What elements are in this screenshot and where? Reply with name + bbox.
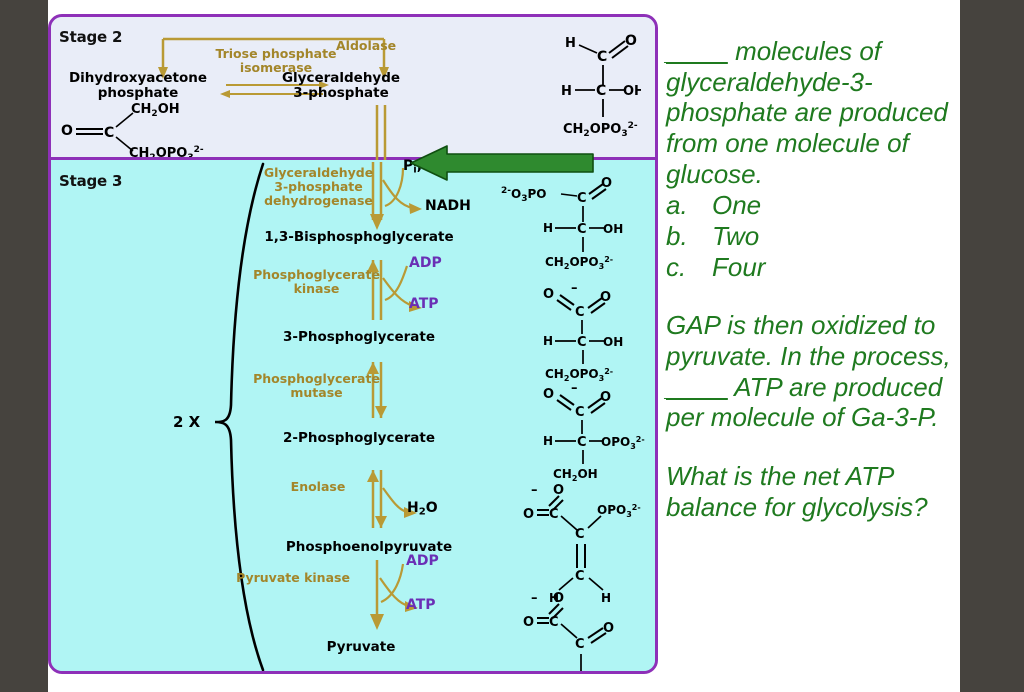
- svg-text:OPO32-: OPO32-: [597, 503, 641, 519]
- enzyme-pyruvate-kinase: Pyruvate kinase: [219, 571, 367, 585]
- svg-text:CH2OH: CH2OH: [553, 467, 598, 483]
- svg-text:O: O: [603, 621, 614, 636]
- svg-text:C: C: [597, 49, 607, 65]
- spacer-2: [666, 433, 958, 461]
- svg-text:C: C: [575, 637, 585, 652]
- question-3: What is the net ATP balance for glycolys…: [666, 461, 958, 522]
- svg-text:C: C: [575, 405, 585, 420]
- svg-text:C: C: [575, 305, 585, 320]
- svg-text:C: C: [575, 569, 585, 584]
- structure-3-pg: O – C O H C OH: [543, 281, 623, 383]
- svg-text:O: O: [600, 390, 611, 405]
- cofactor-atp-1: ATP: [409, 296, 439, 312]
- choice-a[interactable]: a. One: [666, 190, 958, 221]
- enzyme-aldolase: Aldolase: [336, 39, 396, 53]
- enzyme-enolase: Enolase: [273, 480, 363, 494]
- stage3-panel: Stage 3 2 X: [51, 160, 655, 671]
- svg-text:C: C: [577, 435, 587, 450]
- cofactor-adp-2: ADP: [406, 553, 439, 569]
- svg-text:CH2OPO32-: CH2OPO32-: [129, 145, 204, 157]
- glycolysis-diagram: Stage 2 Triose phosp: [48, 14, 658, 674]
- svg-text:OH: OH: [603, 335, 623, 349]
- cofactor-atp-2: ATP: [406, 597, 436, 613]
- svg-text:OH: OH: [623, 84, 641, 99]
- svg-text:H: H: [565, 36, 576, 51]
- cofactor-nadh: NADH: [425, 198, 471, 214]
- svg-text:C: C: [577, 191, 587, 206]
- svg-text:O: O: [625, 33, 637, 49]
- enzyme-phosphoglycerate-kinase: Phosphoglycerate kinase: [249, 268, 384, 296]
- enzyme-phosphoglycerate-mutase: Phosphoglycerate mutase: [249, 372, 384, 400]
- question-1-blank[interactable]: ____: [666, 36, 728, 66]
- compound-2-phosphoglycerate: 2-Phosphoglycerate: [249, 431, 469, 446]
- svg-text:H: H: [561, 84, 572, 99]
- svg-text:CH2OPO32-: CH2OPO32-: [563, 121, 638, 139]
- question-1-choices: a. One b. Two c. Four: [666, 190, 958, 282]
- compound-dihydroxyacetone-phosphate: Dihydroxyacetone phosphate: [53, 71, 223, 101]
- svg-text:O: O: [543, 387, 554, 402]
- svg-text:C: C: [549, 615, 559, 630]
- svg-text:CH2OPO32-: CH2OPO32-: [545, 367, 613, 383]
- structure-pep: – O O C C OPO32- C: [523, 483, 641, 605]
- structure-dhap: O C CH2OH CH2OPO32-: [61, 99, 221, 157]
- stage2-panel: Stage 2 Triose phosp: [51, 17, 655, 160]
- question-panel: ____ molecules of glyceraldehyde-3-phosp…: [666, 36, 958, 522]
- svg-text:–: –: [571, 281, 578, 296]
- question-2-part1: GAP is then oxidized to pyruvate. In the…: [666, 310, 951, 371]
- structure-1-3-bpg: 2-O3PO C O H C OH CH2OPO32-: [501, 176, 623, 271]
- choice-b-label: Two: [712, 221, 759, 252]
- svg-text:C: C: [104, 125, 114, 141]
- choice-a-letter: a.: [666, 190, 712, 221]
- structure-2-pg: O – C O H C OPO32-: [543, 381, 645, 483]
- svg-text:H: H: [543, 434, 553, 448]
- compound-glyceraldehyde-3-phosphate: Glyceraldehyde 3-phosphate: [261, 71, 421, 101]
- compound-pyruvate: Pyruvate: [281, 640, 441, 655]
- screen-root: Stage 2 Triose phosp: [0, 0, 1024, 692]
- svg-text:CH2OPO32-: CH2OPO32-: [545, 255, 613, 271]
- choice-c-label: Four: [712, 252, 765, 283]
- svg-text:O: O: [601, 176, 612, 191]
- choice-b-letter: b.: [666, 221, 712, 252]
- svg-text:CH2OH: CH2OH: [131, 102, 180, 119]
- slide-page: Stage 2 Triose phosp: [48, 0, 960, 692]
- svg-text:O: O: [523, 507, 534, 522]
- question-1: ____ molecules of glyceraldehyde-3-phosp…: [666, 36, 958, 189]
- compound-phosphoenolpyruvate: Phosphoenolpyruvate: [249, 540, 489, 555]
- svg-text:O: O: [61, 123, 73, 139]
- compound-1-3-bisphosphoglycerate: 1,3-Bisphosphoglycerate: [249, 230, 469, 245]
- svg-text:H: H: [543, 334, 553, 348]
- svg-text:–: –: [531, 483, 538, 498]
- green-left-arrow: [409, 145, 595, 181]
- cofactor-water: H2O: [407, 500, 438, 518]
- enzyme-gapdh: Glyceraldehyde 3-phosphate dehydrogenase: [251, 166, 386, 207]
- compound-3-phosphoglycerate: 3-Phosphoglycerate: [249, 330, 469, 345]
- spacer-1: [666, 282, 958, 310]
- svg-text:OPO32-: OPO32-: [601, 435, 645, 451]
- svg-text:O: O: [543, 287, 554, 302]
- cofactor-adp-1: ADP: [409, 255, 442, 271]
- svg-text:OH: OH: [603, 222, 623, 236]
- svg-text:C: C: [549, 507, 559, 522]
- svg-text:O: O: [523, 615, 534, 630]
- svg-text:H: H: [601, 591, 611, 605]
- svg-text:C: C: [575, 527, 585, 542]
- choice-c-letter: c.: [666, 252, 712, 283]
- svg-text:C: C: [596, 83, 606, 99]
- choice-a-label: One: [712, 190, 761, 221]
- svg-text:2-O3PO: 2-O3PO: [501, 186, 546, 204]
- question-2-blank[interactable]: ____: [666, 372, 728, 402]
- structures-column-stage3: 2-O3PO C O H C OH CH2OPO32-: [491, 172, 656, 672]
- structure-gap: H C O H C OH CH2OPO32-: [501, 29, 641, 144]
- svg-text:–: –: [531, 591, 538, 606]
- svg-text:H: H: [543, 221, 553, 235]
- svg-text:O: O: [600, 290, 611, 305]
- svg-text:–: –: [571, 381, 578, 396]
- svg-text:C: C: [577, 335, 587, 350]
- question-2: GAP is then oxidized to pyruvate. In the…: [666, 310, 958, 433]
- choice-c[interactable]: c. Four: [666, 252, 958, 283]
- svg-text:C: C: [577, 222, 587, 237]
- choice-b[interactable]: b. Two: [666, 221, 958, 252]
